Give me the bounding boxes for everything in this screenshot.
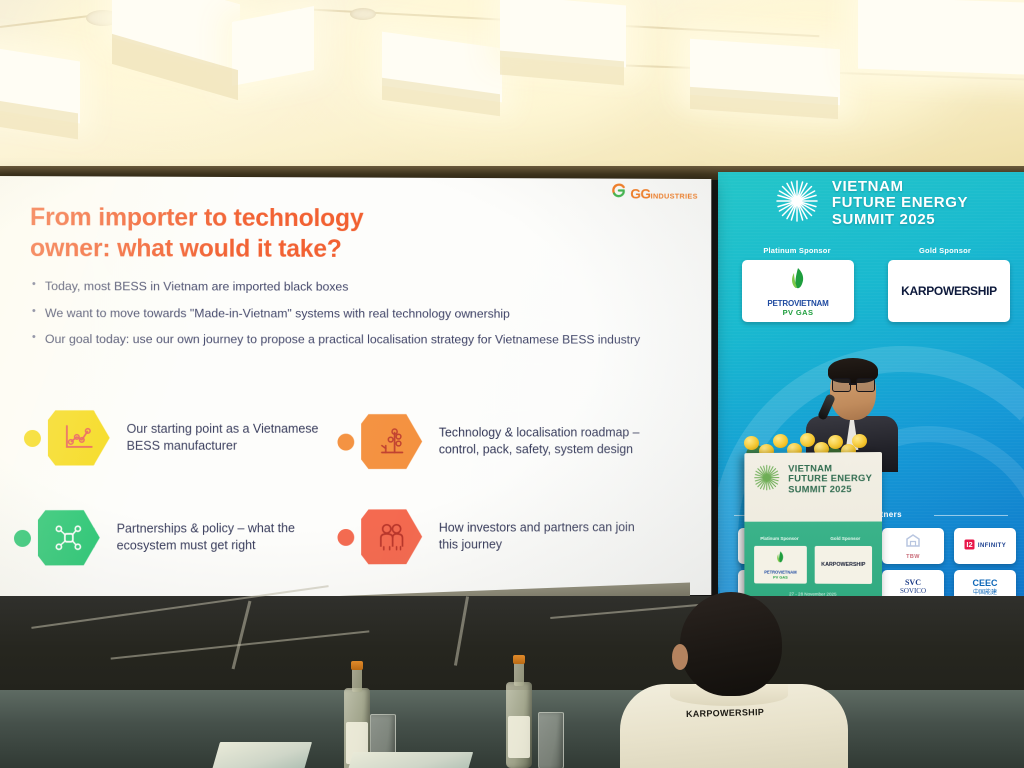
- network-nodes-icon: [53, 523, 85, 553]
- bullet-item: Our goal today: use our own journey to p…: [30, 331, 680, 349]
- podium-platinum-label: Platinum Sponsor: [752, 536, 807, 541]
- agenda-dot: [24, 429, 41, 446]
- podium-sponsor-name-gold: KARPOWERSHIP: [821, 562, 865, 568]
- podium-event-header: VIETNAM FUTURE ENERGY SUMMIT 2025: [752, 462, 872, 497]
- platinum-sponsor-label: Platinum Sponsor: [732, 246, 862, 255]
- agenda-item-2: Technology & localisation roadmap – cont…: [337, 412, 639, 472]
- conference-room-scene: VIETNAM FUTURE ENERGY SUMMIT 2025 Platin…: [0, 0, 1024, 768]
- tbw-icon: [904, 533, 922, 554]
- slide-bullet-list: Today, most BESS in Vietnam are imported…: [30, 278, 680, 358]
- sunburst-icon: [752, 463, 781, 498]
- swirl-logo-icon: [610, 183, 627, 205]
- projection-screen-slide: GG INDUSTRIES From importer to technolog…: [0, 176, 711, 598]
- agenda-dot: [337, 433, 354, 450]
- agenda-badge: [38, 508, 100, 568]
- audience-member-head: [680, 592, 782, 696]
- podium-event-title: VIETNAM FUTURE ENERGY SUMMIT 2025: [788, 464, 872, 496]
- water-bottle: [506, 682, 532, 768]
- partner-name: INFINITY: [978, 543, 1006, 549]
- agenda-dot: [337, 528, 354, 545]
- agenda-item-1: Our starting point as a Vietnamese BESS …: [24, 408, 318, 468]
- agenda-item-4: How investors and partners can join this…: [337, 506, 634, 566]
- eyeglasses-icon: [832, 378, 874, 390]
- partner-card: TBW: [882, 528, 944, 564]
- shirt-logo-text: KARPOWERSHIP: [686, 707, 764, 719]
- gg-industries-logo: GG INDUSTRIES: [610, 183, 698, 205]
- printed-program: [212, 742, 312, 768]
- drinking-glass: [538, 712, 564, 768]
- ceiling-light-panel: [858, 0, 1024, 75]
- agenda-label-2: Technology & localisation roadmap – cont…: [439, 425, 640, 459]
- two-people-icon: [376, 522, 407, 552]
- agenda-badge: [361, 507, 422, 567]
- agenda-dot: [14, 529, 31, 546]
- sunburst-icon: [774, 178, 820, 229]
- plant-growth-icon: [377, 427, 407, 457]
- podium-gold-label: Gold Sponsor: [817, 536, 874, 541]
- svg-text:SOVICO: SOVICO: [900, 587, 926, 595]
- logo-text-gg: GG: [630, 186, 650, 202]
- sponsor-name-gold: KARPOWERSHIP: [901, 284, 997, 298]
- slide-title: From importer to technology owner: what …: [30, 202, 446, 264]
- sponsor-subname-platinum: PV GAS: [783, 308, 814, 317]
- line-chart-icon: [63, 423, 95, 453]
- gas-leaf-icon: [787, 266, 809, 297]
- podium-sponsor-card-platinum: PETROVIETNAM PV GAS: [754, 546, 807, 584]
- partner-card: I2 INFINITY: [954, 528, 1016, 564]
- bullet-item: Today, most BESS in Vietnam are imported…: [30, 278, 680, 297]
- sponsor-name-platinum: PETROVIETNAM: [767, 299, 828, 308]
- sponsor-card-gold: KARPOWERSHIP: [888, 260, 1010, 322]
- audience-member: KARPOWERSHIP: [612, 592, 856, 768]
- podium-sponsor-card-gold: KARPOWERSHIP: [815, 546, 872, 584]
- agenda-label-1: Our starting point as a Vietnamese BESS …: [127, 421, 319, 455]
- svg-text:SVC: SVC: [905, 578, 921, 587]
- infinity-icon: I2: [964, 537, 975, 555]
- podium-sponsor-subname-platinum: PV GAS: [773, 575, 788, 580]
- svg-text:I2: I2: [966, 540, 972, 549]
- agenda-label-3: Partnerships & policy – what the ecosyst…: [117, 520, 295, 554]
- ceiling-downlight: [350, 8, 376, 20]
- partner-name: TBW: [906, 554, 920, 560]
- gas-leaf-icon: [775, 550, 787, 570]
- agenda-badge: [48, 408, 110, 468]
- svg-text:中国能建: 中国能建: [973, 588, 997, 596]
- gold-sponsor-label: Gold Sponsor: [878, 246, 1012, 255]
- svg-text:CEEC: CEEC: [972, 578, 998, 588]
- sponsor-card-platinum: PETROVIETNAM PV GAS: [742, 260, 854, 322]
- led-event-title: VIETNAM FUTURE ENERGY SUMMIT 2025: [832, 179, 968, 229]
- ceiling: [0, 0, 1024, 172]
- logo-text-industries: INDUSTRIES: [651, 192, 698, 201]
- agenda-item-3: Partnerships & policy – what the ecosyst…: [14, 507, 295, 568]
- bullet-item: We want to move towards "Made-in-Vietnam…: [30, 305, 680, 323]
- led-event-header: VIETNAM FUTURE ENERGY SUMMIT 2025: [718, 178, 1024, 229]
- printed-program: [347, 752, 473, 768]
- agenda-badge: [361, 412, 422, 472]
- agenda-label-4: How investors and partners can join this…: [439, 519, 635, 553]
